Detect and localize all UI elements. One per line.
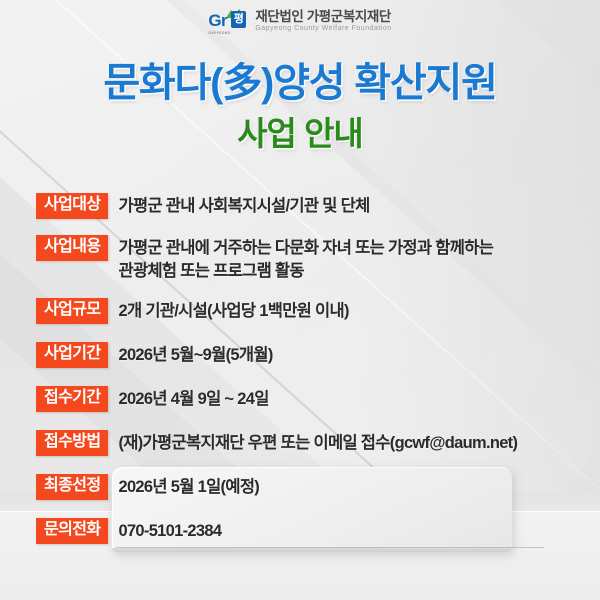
logo-name-english: Gapyeong County Welfare Foundation	[255, 25, 391, 33]
info-value-final-selection: 2026년 5월 1일(예정)	[108, 474, 596, 499]
info-value-application-period: 2026년 4월 9일 ~ 24일	[108, 386, 596, 411]
info-label-scale: 사업규모	[36, 298, 108, 324]
info-label-period: 사업기간	[36, 342, 108, 368]
info-value-period: 2026년 5월~9월(5개월)	[108, 342, 596, 367]
info-value-target: 가평군 관내 사회복지시설/기관 및 단체	[108, 193, 596, 218]
page-title: 문화다(多)양성 확산지원	[0, 62, 600, 104]
info-value-scale: 2개 기관/시설(사업당 1백만원 이내)	[108, 298, 596, 323]
foundation-logo: Gr 평 GAPYEONG 재단법인 가평군복지재단 Gapyeong Coun…	[0, 5, 600, 37]
info-row-period: 사업기간 2026년 5월~9월(5개월)	[36, 342, 596, 368]
info-value-contact-phone: 070-5101-2384	[108, 518, 596, 543]
info-label-final-selection: 최종선정	[36, 474, 108, 500]
logo-wordmark: 재단법인 가평군복지재단 Gapyeong County Welfare Fou…	[255, 9, 391, 34]
info-label-target: 사업대상	[36, 193, 108, 219]
info-label-contact-phone: 문의전화	[36, 518, 108, 544]
info-list: 사업대상 가평군 관내 사회복지시설/기관 및 단체 사업내용 가평군 관내에 …	[36, 193, 596, 544]
decorative-horizontal-rule	[116, 547, 544, 548]
info-label-application-period: 접수기간	[36, 386, 108, 412]
info-row-scale: 사업규모 2개 기관/시설(사업당 1백만원 이내)	[36, 298, 596, 324]
info-value-content: 가평군 관내에 거주하는 다문화 자녀 또는 가정과 함께하는 관광체험 또는 …	[108, 235, 596, 283]
decorative-panel-edge	[112, 548, 512, 552]
info-label-application-method: 접수방법	[36, 430, 108, 456]
info-row-contact-phone: 문의전화 070-5101-2384	[36, 518, 596, 544]
logo-name-korean: 재단법인 가평군복지재단	[255, 9, 391, 25]
logo-gr-text: Gr	[208, 12, 227, 29]
logo-gapyeong-text: GAPYEONG	[208, 31, 230, 35]
info-label-content: 사업내용	[36, 235, 108, 261]
logo-py-text: 평	[231, 11, 246, 28]
info-row-application-period: 접수기간 2026년 4월 9일 ~ 24일	[36, 386, 596, 412]
page-subtitle: 사업 안내	[0, 116, 600, 152]
info-value-application-method: (재)가평군복지재단 우편 또는 이메일 접수(gcwf@daum.net)	[108, 430, 596, 455]
info-row-content: 사업내용 가평군 관내에 거주하는 다문화 자녀 또는 가정과 함께하는 관광체…	[36, 235, 596, 283]
info-row-final-selection: 최종선정 2026년 5월 1일(예정)	[36, 474, 596, 500]
logo-symbol-icon: Gr 평 GAPYEONG	[208, 8, 248, 34]
info-row-target: 사업대상 가평군 관내 사회복지시설/기관 및 단체	[36, 193, 596, 219]
poster-canvas: Gr 평 GAPYEONG 재단법인 가평군복지재단 Gapyeong Coun…	[0, 0, 600, 600]
info-row-application-method: 접수방법 (재)가평군복지재단 우편 또는 이메일 접수(gcwf@daum.n…	[36, 430, 596, 456]
